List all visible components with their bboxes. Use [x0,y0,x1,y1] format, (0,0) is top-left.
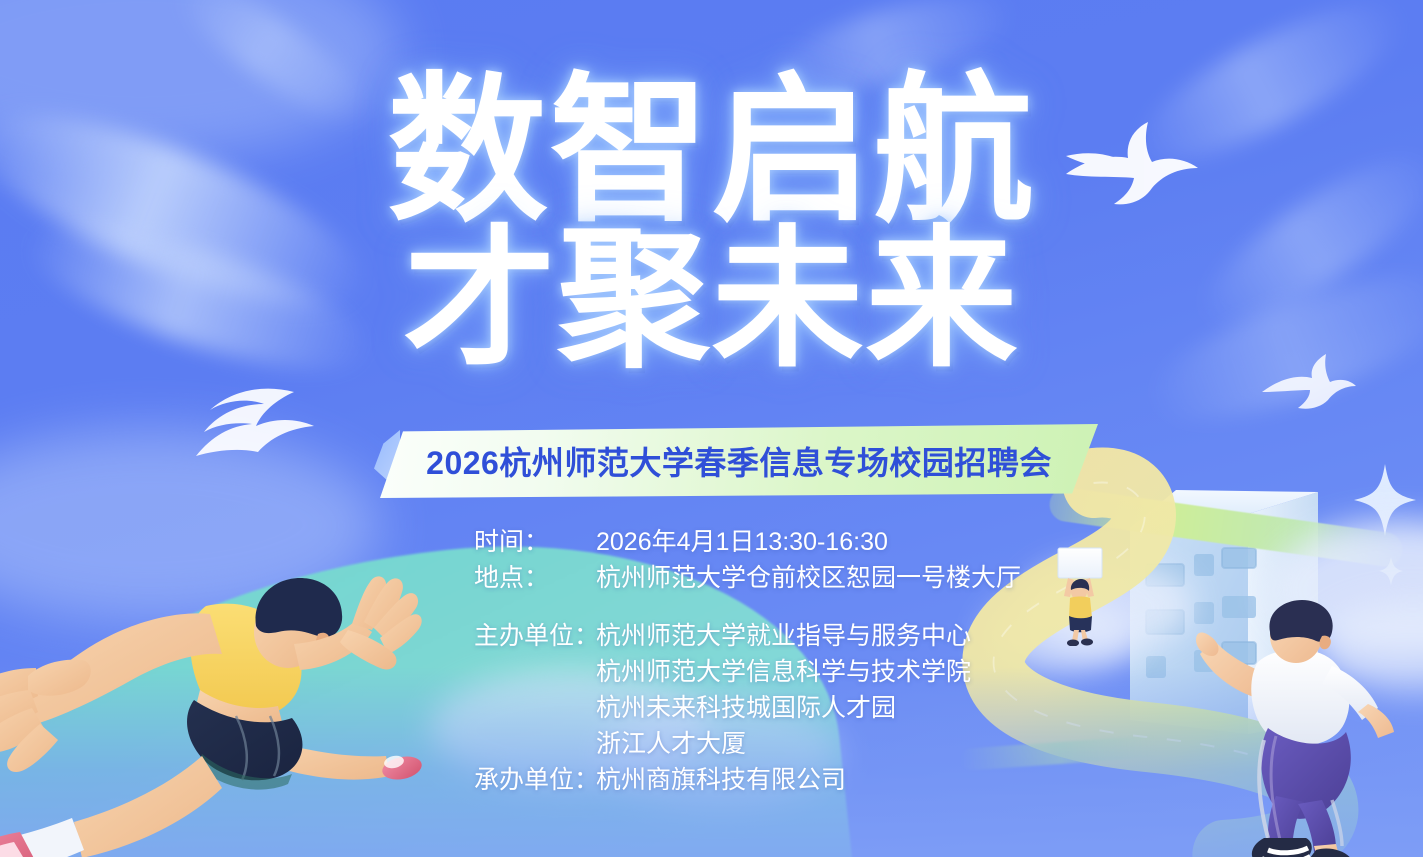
host-value-2: 杭州师范大学信息科学与技术学院 [596,654,1021,690]
cloud-streak [755,0,1024,114]
title-line-2: 才聚未来 [0,220,1423,381]
poster-title: 数智启航 才聚未来 [0,66,1423,381]
place-label: 地点： [474,560,596,596]
dove-icon [178,378,328,473]
place-row: 地点： 杭州师范大学仓前校区恕园一号楼大厅 [474,560,1021,596]
cloud-streak [14,197,386,399]
cloud-decoration [0,0,400,160]
organizer-value: 杭州商旗科技有限公司 [596,762,846,798]
cloud-streak [164,0,387,143]
host-value-1: 杭州师范大学就业指导与服务中心 [596,618,971,654]
dove-icon [1052,118,1207,218]
time-value: 2026年4月1日13:30-16:30 [596,524,888,560]
time-row: 时间： 2026年4月1日13:30-16:30 [474,524,1021,560]
spacer [474,596,1021,618]
cloud-streak [1182,129,1423,352]
cloud-streak [0,76,387,345]
host-row: 主办单位： 杭州师范大学就业指导与服务中心 [474,618,1021,654]
host-value-3: 杭州未来科技城国际人才园 [596,690,1021,726]
banner-text: 2026杭州师范大学春季信息专场校园招聘会 [380,424,1098,498]
recruitment-poster: 数智启航 才聚未来 2026杭州师范大学春季信息专场校园招聘会 时间： 2026… [0,0,1423,857]
organizer-row: 承办单位： 杭州商旗科技有限公司 [474,762,1021,798]
place-value: 杭州师范大学仓前校区恕园一号楼大厅 [596,560,1021,596]
cloud-streak [1118,0,1423,190]
title-line-1: 数智启航 [0,66,1423,236]
host-value-4: 浙江人才大厦 [596,726,1021,762]
time-label: 时间： [474,524,596,560]
event-info-block: 时间： 2026年4月1日13:30-16:30 地点： 杭州师范大学仓前校区恕… [474,524,1021,798]
host-label: 主办单位： [474,618,596,654]
dove-icon [1254,352,1359,418]
organizer-label: 承办单位： [474,762,596,798]
cloud-streak [1134,246,1423,448]
